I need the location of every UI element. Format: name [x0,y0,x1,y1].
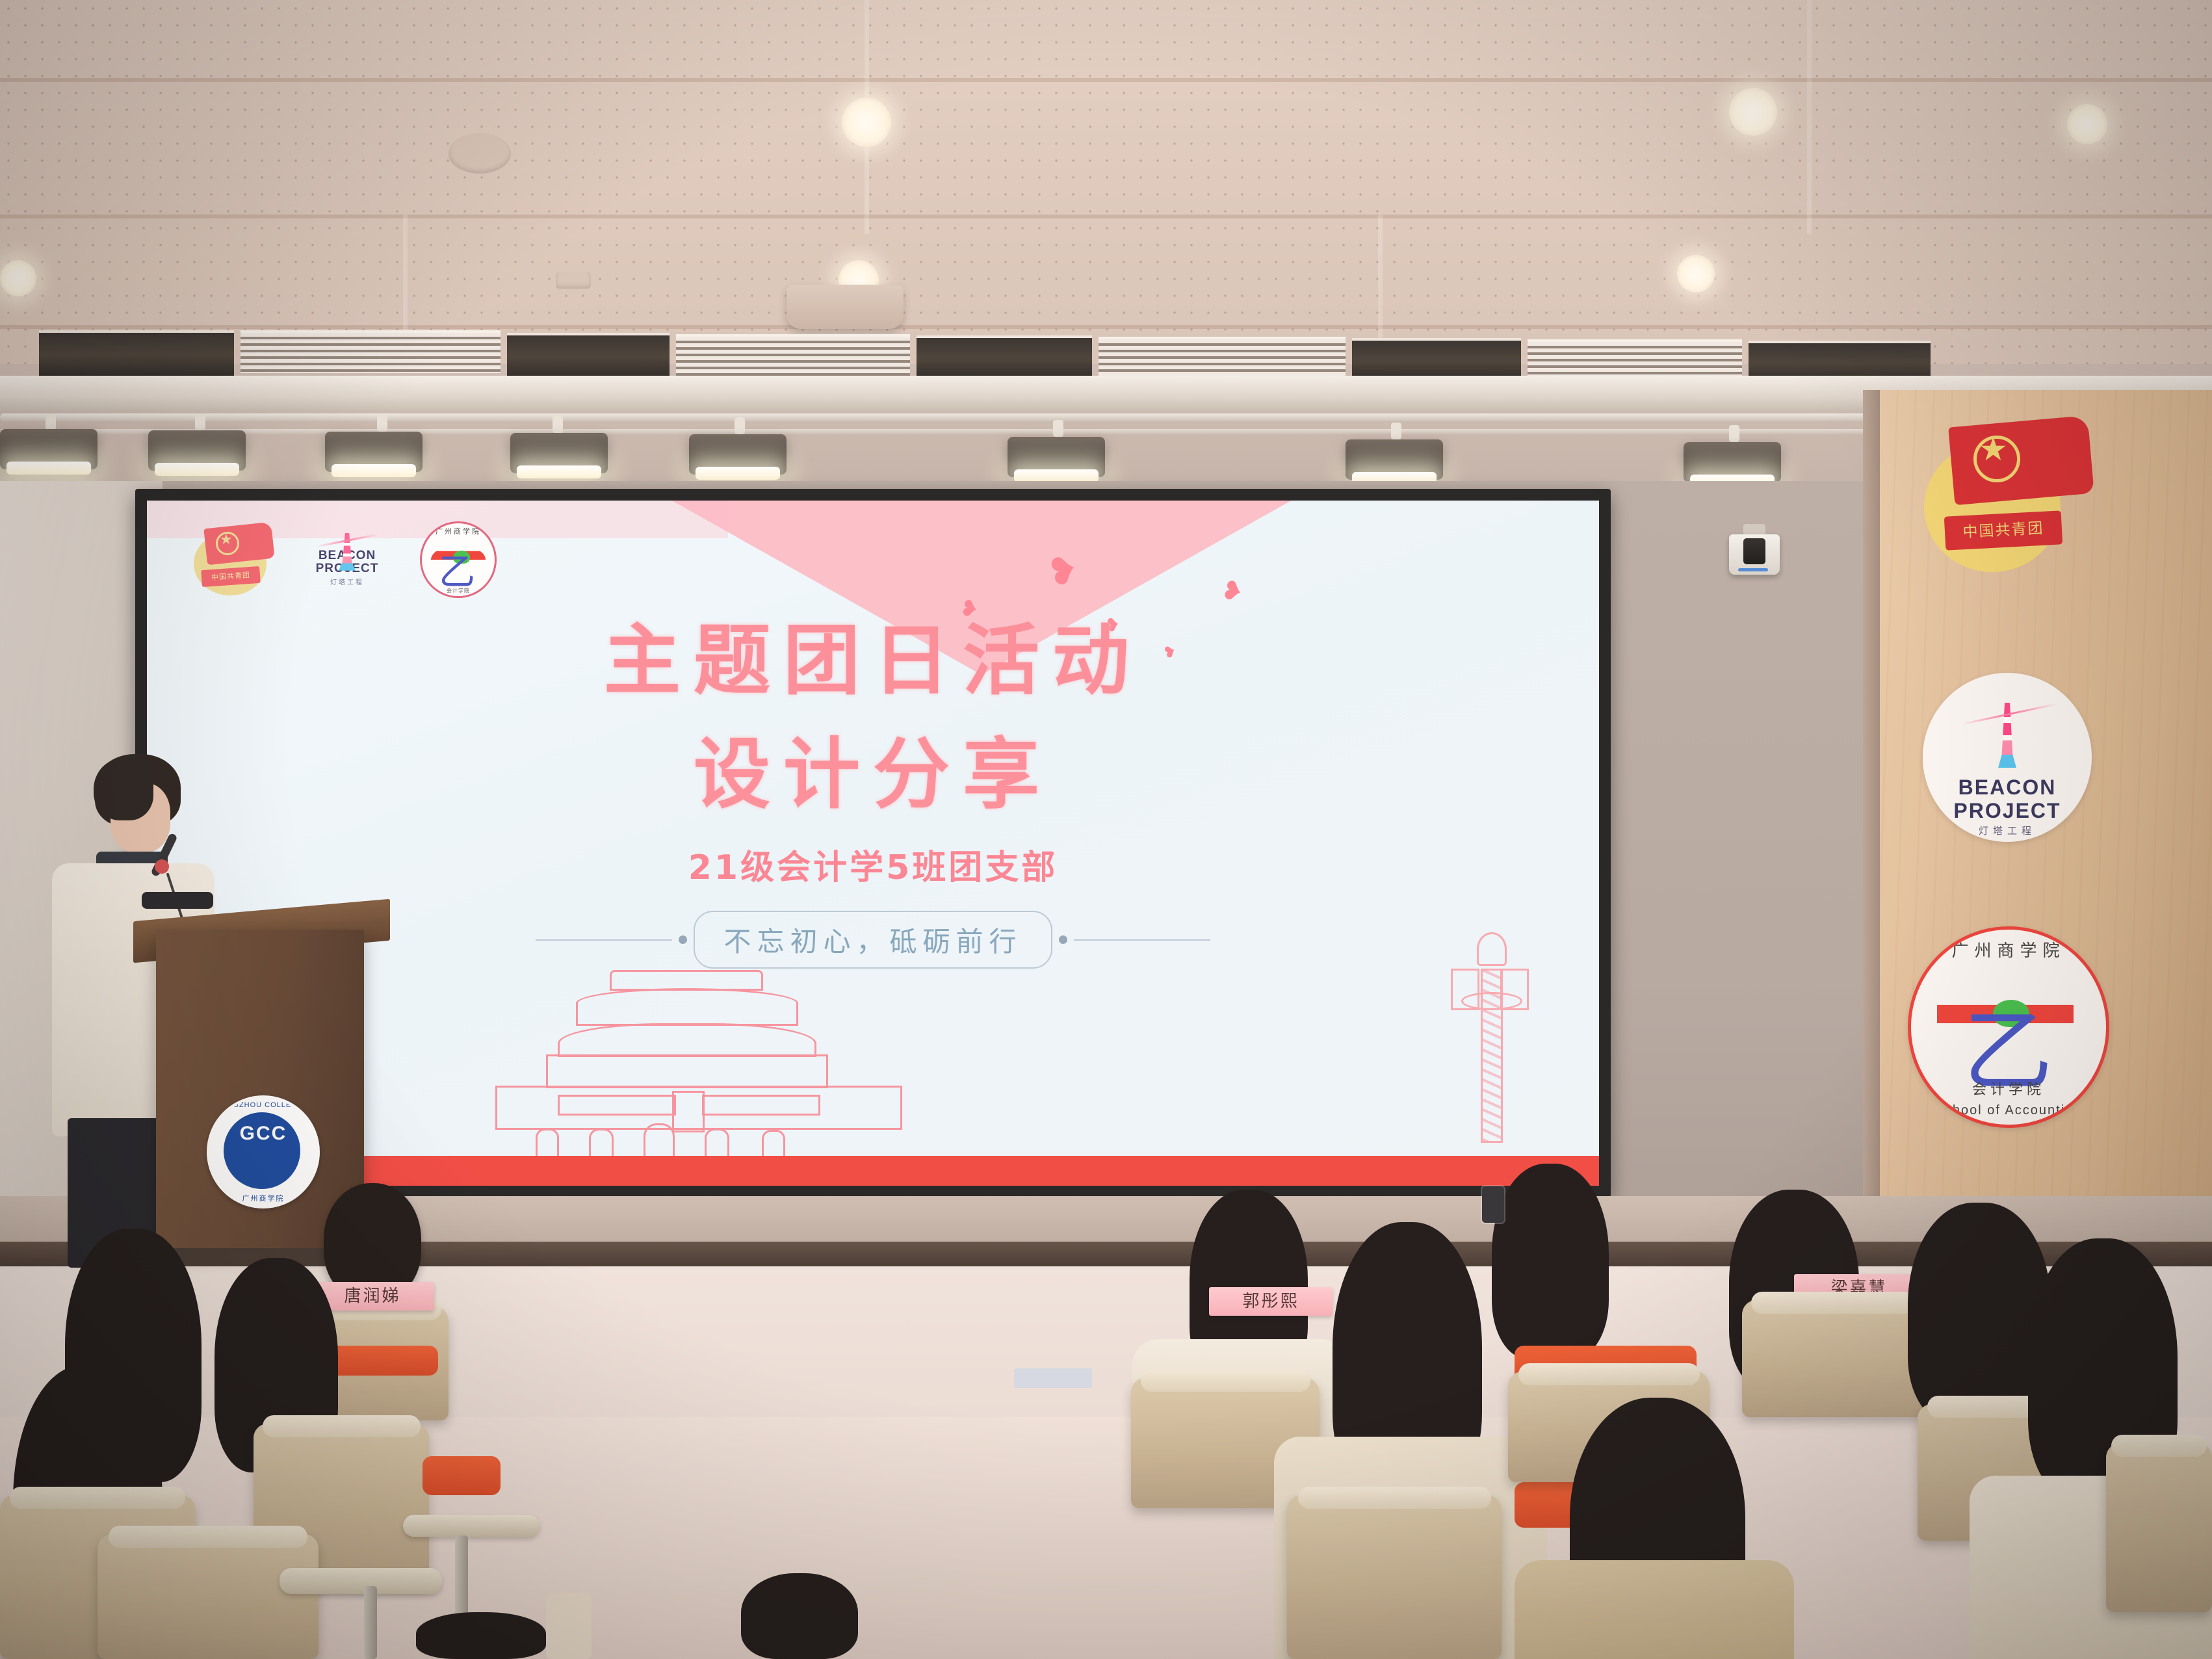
ceiling-seam [1378,215,1383,345]
spotlight-arm [195,413,205,430]
microphone-head-icon [155,859,169,874]
podium-emblem: GUANGZHOU COLLEGE OF GCC 广州商学院 [207,1095,320,1208]
school-emblem-en-text: School of Accounting [1911,1103,2106,1118]
hvac-vent-panel [507,333,670,380]
slide-class-label: 21级会计学5班团支部 [147,840,1599,889]
ceiling-downlight [0,260,36,296]
ceiling-downlight [2067,104,2107,144]
spotlight-arm [1053,420,1063,437]
school-accounting-icon: 广州商学院 乙 会计学院 [420,521,497,598]
spotlight-arm [1729,425,1739,442]
hvac-slat-vent [676,334,910,376]
youth-league-emblem-icon: 中国共青团 [190,524,274,595]
auditorium-seat [1742,1300,1924,1417]
stage-spotlight [325,432,423,472]
slide-title-line2: 设计分享 [147,712,1599,823]
hvac-vent-panel [39,330,234,378]
ptz-camera-icon [1729,534,1780,575]
podium-emblem-bottom-text: 广州商学院 [209,1193,317,1203]
podium-emblem-name: GCC [209,1123,317,1145]
ceiling-speaker [787,285,904,329]
audience-head [416,1612,546,1659]
auditorium-seat [1287,1495,1502,1659]
seat-cushion [423,1456,501,1495]
projection-screen[interactable]: ❥ ❥ ❥ ❥ ❥ 中国共青团 BEACON [147,501,1599,1186]
ceiling-seam [0,215,2212,218]
seat-post [364,1586,377,1659]
audience-shoulders [1515,1560,1794,1659]
slide-school-top: 广州商学院 [422,526,495,536]
stage-spotlight [510,433,608,473]
wall-edge [1863,390,1880,1255]
audience-head [741,1573,858,1659]
stage-spotlight [689,434,787,475]
stage-spotlight [0,429,98,469]
tagline-rule-right [1074,939,1210,941]
wall-emblem-youth-league: ★ 中国共青团 [1911,416,2093,579]
podium-emblem-top-text: GUANGZHOU COLLEGE OF [209,1101,317,1109]
seat-tablet-arm [546,1593,592,1659]
stage-spotlight [1684,442,1781,482]
hvac-slat-vent [241,330,501,373]
slide-beacon-cn: 灯塔工程 [308,577,386,586]
audience-head [1492,1164,1609,1359]
slide-bottom-red-band [147,1156,1599,1186]
ceiling-seam [1807,0,1812,234]
slide-school-bottom: 会计学院 [422,587,495,594]
tiananmen-outline-graphic [495,970,937,1145]
microphone-stand-base [142,892,213,909]
hvac-slat-vent [1528,339,1742,380]
tagline-dot-right [1059,935,1067,944]
ceiling-downlight [842,98,891,147]
spotlight-arm [46,413,56,430]
spotlight-arm [553,416,563,433]
tagline-dot-left [679,935,687,944]
stage-spotlight [1346,439,1443,480]
beacon-line-cn: 灯塔工程 [1923,824,2092,837]
spotlight-arm [1391,423,1401,439]
spotlight-arm [377,415,387,432]
seat-armrest[interactable] [403,1515,540,1537]
seat-nameplate: 郭彤熙 [1209,1287,1333,1316]
beacon-project-icon: BEACON PROJECT 灯塔工程 [308,533,386,587]
slide-logo-row: 中国共青团 BEACON PROJECT 灯塔工程 广州商学院 乙 [190,521,497,598]
auditorium-seat [98,1534,319,1659]
slide-tagline: 不忘初心，砥砺前行 [694,911,1052,969]
ceiling-downlight [1729,88,1777,136]
mobile-phone[interactable] [1482,1186,1504,1223]
wall-emblem-label: 中国共青团 [1944,510,2062,550]
seat-armrest[interactable] [280,1568,442,1594]
beacon-line2: PROJECT [1923,800,2092,822]
slide-title-line1: 主题团日活动 [147,598,1599,709]
floor-sign [1014,1368,1092,1388]
huabiao-column-graphic [1459,932,1521,1147]
stage-spotlight [1008,437,1105,477]
presenter-hair-front [94,758,153,820]
hvac-slat-vent [1099,337,1346,377]
ceiling-blank-cap [449,133,511,174]
camera-lens-icon [1743,538,1765,564]
spotlight-arm [735,417,745,434]
stage-spotlight [148,430,246,471]
school-emblem-top-text: 广州商学院 [1911,937,2106,961]
ceiling-seam [403,215,408,345]
beacon-line1: BEACON [1923,777,2092,799]
ceiling-sprinkler [556,272,591,289]
auditorium-photo: ★ 中国共青团 BEACON PROJECT 灯塔工程 广州商学院 乙 会计学院… [0,0,2212,1659]
hvac-vent-panel [917,335,1092,381]
wall-emblem-beacon-project: BEACON PROJECT 灯塔工程 [1923,673,2092,842]
school-emblem-cn-text: 会计学院 [1911,1078,2106,1099]
presentation-slide: ❥ ❥ ❥ ❥ ❥ 中国共青团 BEACON [147,501,1599,1186]
ceiling-downlight [1677,255,1715,293]
wall-emblem-school-of-accounting: 广州商学院 乙 会计学院 School of Accounting [1908,926,2109,1128]
camera-led-indicator [1738,568,1768,571]
ceiling-seam [0,325,2212,329]
auditorium-seat [2106,1443,2212,1612]
ceiling-seam [0,78,2212,82]
tagline-rule-left [536,939,672,941]
